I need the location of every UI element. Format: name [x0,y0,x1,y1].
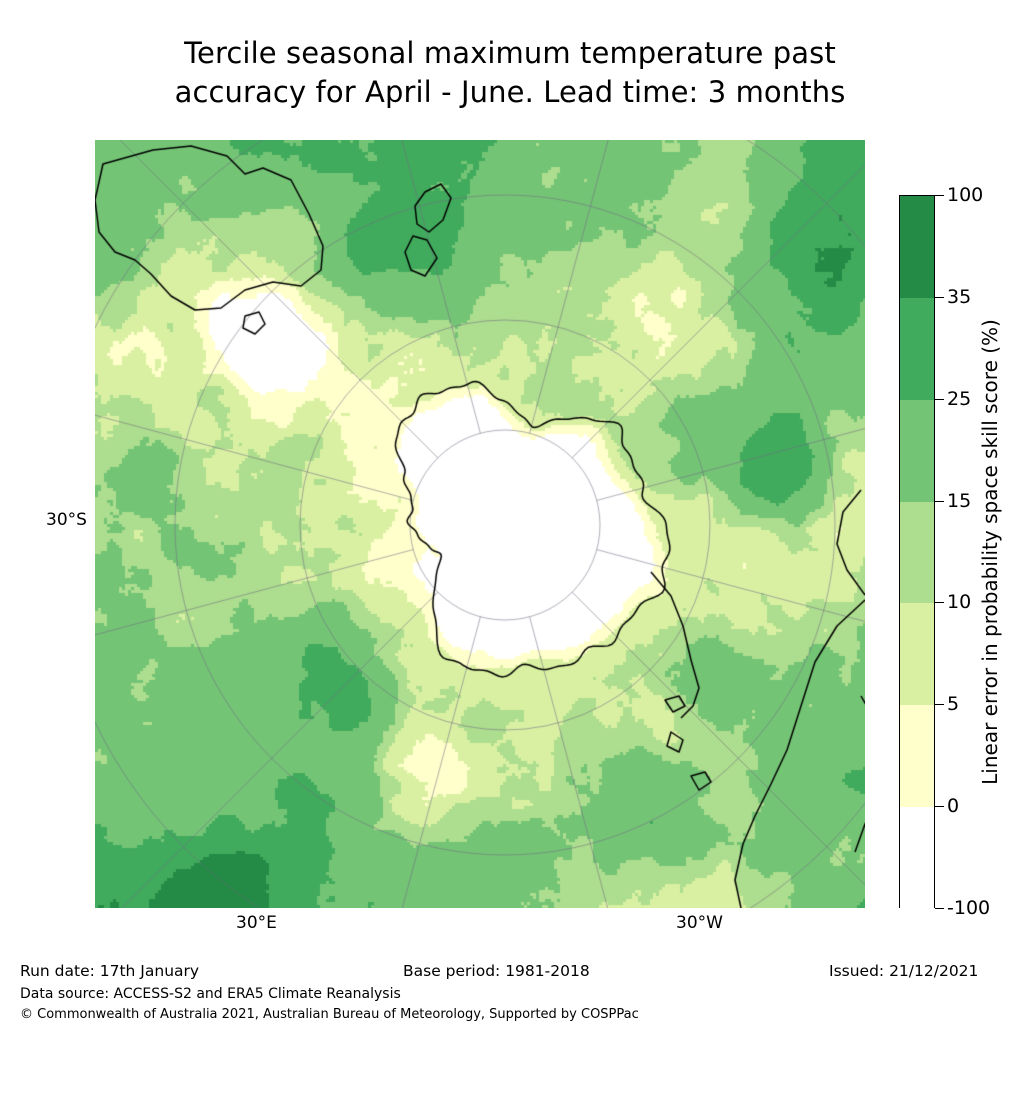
title-line-2: accuracy for April - June. Lead time: 3 … [0,73,1020,112]
run-date-text: Run date: 17th January [20,962,199,980]
colorbar-tick-5 [935,704,944,705]
colorbar-tick-label-0: 0 [947,795,959,817]
colorbar-tick-label-25: 25 [947,388,971,410]
copyright-text: © Commonwealth of Australia 2021, Austra… [20,1007,639,1022]
colorbar-label-text: Linear error in probability space skill … [978,319,1002,785]
colorbar-band-4 [900,400,934,502]
colorbar-tick-label-10: 10 [947,591,971,613]
axis-tick-30s: 30°S [46,510,87,530]
map-plot-area [95,140,865,908]
page-title: Tercile seasonal maximum temperature pas… [0,34,1020,112]
colorbar-tick-35 [935,297,944,298]
skill-score-heatmap [95,140,865,908]
colorbar-tick-10 [935,602,944,603]
colorbar-band-3 [900,502,934,604]
colorbar-band-0 [900,807,934,909]
colorbar-tick-label-5: 5 [947,693,959,715]
data-source-text: Data source: ACCESS-S2 and ERA5 Climate … [20,986,401,1002]
axis-tick-30w: 30°W [676,913,723,933]
colorbar-band-1 [900,705,934,807]
colorbar-tick-100 [935,195,944,196]
issued-date-text: Issued: 21/12/2021 [829,962,978,980]
colorbar-band-6 [900,196,934,298]
colorbar: -1000510152535100 [899,195,935,908]
colorbar-tick-0 [935,806,944,807]
axis-tick-30e: 30°E [236,913,277,933]
colorbar-tick-label-35: 35 [947,286,971,308]
colorbar-tick-25 [935,399,944,400]
colorbar-tick--100 [935,908,944,909]
colorbar-axis-label: Linear error in probability space skill … [975,195,1005,908]
colorbar-band-2 [900,603,934,705]
base-period-text: Base period: 1981-2018 [403,962,590,980]
colorbar-tick-label-15: 15 [947,490,971,512]
title-line-1: Tercile seasonal maximum temperature pas… [0,34,1020,73]
colorbar-gradient [899,195,935,908]
colorbar-tick-15 [935,501,944,502]
colorbar-band-5 [900,298,934,400]
